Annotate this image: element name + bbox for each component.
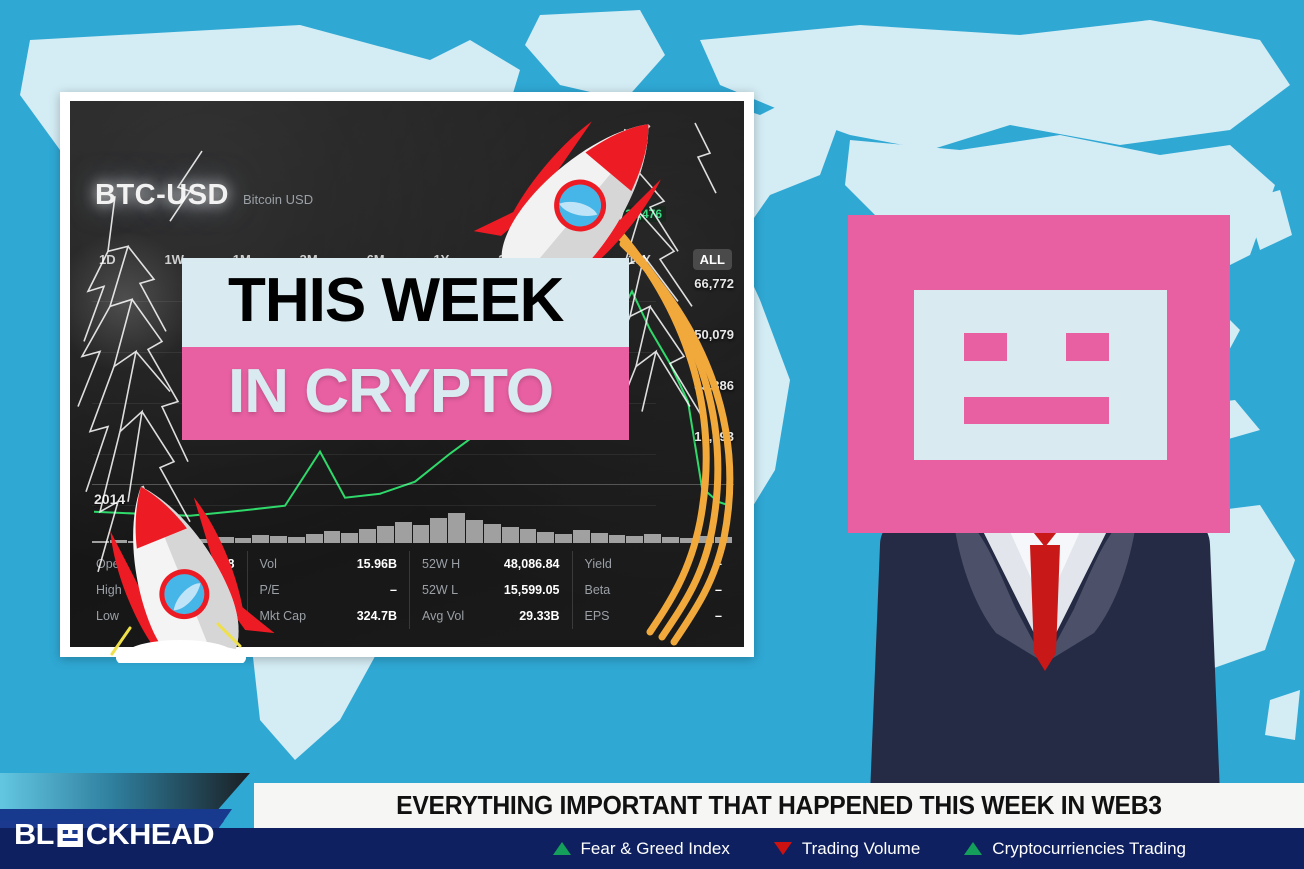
- title-line-1: THIS WEEK: [182, 258, 629, 347]
- stats-column: 52W H48,086.84 52W L15,599.05 Avg Vol29.…: [409, 551, 572, 629]
- logo-text-part1: BL: [14, 819, 54, 852]
- stats-row: Avg Vol29.33B: [422, 603, 560, 629]
- stat-key: Yield: [585, 557, 612, 571]
- blockhead-face-icon: [57, 824, 82, 847]
- stats-column: Yield– Beta– EPS–: [572, 551, 735, 629]
- arrow-down-icon: [774, 842, 792, 855]
- title-line-2: IN CRYPTO: [182, 347, 629, 440]
- volume-bar: [520, 529, 537, 543]
- bottom-banner: EVERYTHING IMPORTANT THAT HAPPENED THIS …: [0, 773, 1304, 869]
- mascot-character: [820, 205, 1270, 785]
- ticker-symbol: BTC-USD: [95, 179, 229, 212]
- volume-bar: [662, 537, 679, 543]
- stat-value: –: [390, 583, 397, 597]
- logo-text-part2: CKHEAD: [86, 819, 214, 852]
- stat-key: 52W L: [422, 583, 458, 597]
- mascot-mouth: [964, 397, 1109, 424]
- volume-bar: [537, 532, 554, 543]
- mascot-face: [914, 290, 1167, 460]
- stat-value: 29.33B: [519, 609, 559, 623]
- volume-bar: [341, 533, 358, 543]
- ticker-item-trading-volume[interactable]: Trading Volume: [774, 839, 920, 859]
- volume-bar: [609, 535, 626, 543]
- volume-bar: [395, 522, 412, 543]
- volume-bar: [430, 518, 447, 543]
- volume-bar: [555, 534, 572, 543]
- volume-bar: [573, 530, 590, 543]
- mascot-head: [848, 215, 1230, 533]
- stat-value: 324.7B: [357, 609, 397, 623]
- volume-bar: [680, 538, 697, 543]
- logo-wordmark: BL CKHEAD: [14, 819, 214, 852]
- volume-bar: [698, 536, 715, 543]
- ticker-header: BTC-USD Bitcoin USD: [95, 179, 313, 212]
- stats-row: 52W L15,599.05: [422, 577, 560, 603]
- ticker-label: Trading Volume: [802, 839, 920, 859]
- range-button-all[interactable]: ALL: [693, 249, 732, 270]
- stat-value: –: [715, 557, 722, 571]
- volume-bar: [324, 531, 341, 543]
- volume-bar: [306, 534, 323, 543]
- volume-bar: [715, 537, 732, 543]
- stat-key: Beta: [585, 583, 611, 597]
- mascot-eye-left: [964, 333, 1007, 361]
- stat-value: 48,086.84: [504, 557, 560, 571]
- arrow-up-icon: [553, 842, 571, 855]
- ticker-label: Fear & Greed Index: [581, 839, 730, 859]
- stat-key: EPS: [585, 609, 610, 623]
- ticker-item-fear-greed[interactable]: Fear & Greed Index: [553, 839, 730, 859]
- stat-value: 15.96B: [357, 557, 397, 571]
- stat-key: Avg Vol: [422, 609, 464, 623]
- volume-bar: [413, 525, 430, 543]
- ticker-item-cryptocurrencies-trading[interactable]: Cryptocurriencies Trading: [964, 839, 1186, 859]
- stats-row: EPS–: [585, 603, 723, 629]
- volume-bar: [448, 513, 465, 543]
- ticker-company-name: Bitcoin USD: [243, 192, 313, 207]
- rocket-icon-bottom: [68, 478, 293, 663]
- stat-value: –: [715, 609, 722, 623]
- ticker-label: Cryptocurriencies Trading: [992, 839, 1186, 859]
- blockhead-logo[interactable]: BL CKHEAD: [0, 773, 262, 869]
- volume-bar: [466, 520, 483, 543]
- mascot-eye-right: [1066, 333, 1109, 361]
- volume-bar: [591, 533, 608, 543]
- volume-bar: [502, 527, 519, 543]
- stats-row: Yield–: [585, 551, 723, 577]
- price-axis-tick: 33,386: [660, 378, 734, 429]
- volume-bar: [359, 529, 376, 543]
- price-axis-tick: 16,693: [660, 429, 734, 480]
- banner-headline-text: EVERYTHING IMPORTANT THAT HAPPENED THIS …: [396, 790, 1162, 821]
- volume-bar: [626, 536, 643, 543]
- stat-key: 52W H: [422, 557, 460, 571]
- stats-row: 52W H48,086.84: [422, 551, 560, 577]
- stat-value: –: [715, 583, 722, 597]
- range-button-1d[interactable]: 1D: [92, 249, 123, 270]
- volume-bar: [644, 534, 661, 543]
- banner-headline-bar: EVERYTHING IMPORTANT THAT HAPPENED THIS …: [254, 783, 1304, 828]
- stats-row: Beta–: [585, 577, 723, 603]
- volume-bar: [377, 526, 394, 543]
- price-axis-tick: 50,079: [660, 327, 734, 378]
- stat-value: 15,599.05: [504, 583, 560, 597]
- title-stack: THIS WEEK IN CRYPTO: [182, 258, 629, 440]
- suit-body: [820, 505, 1270, 795]
- volume-bar: [484, 524, 501, 543]
- arrow-up-icon: [964, 842, 982, 855]
